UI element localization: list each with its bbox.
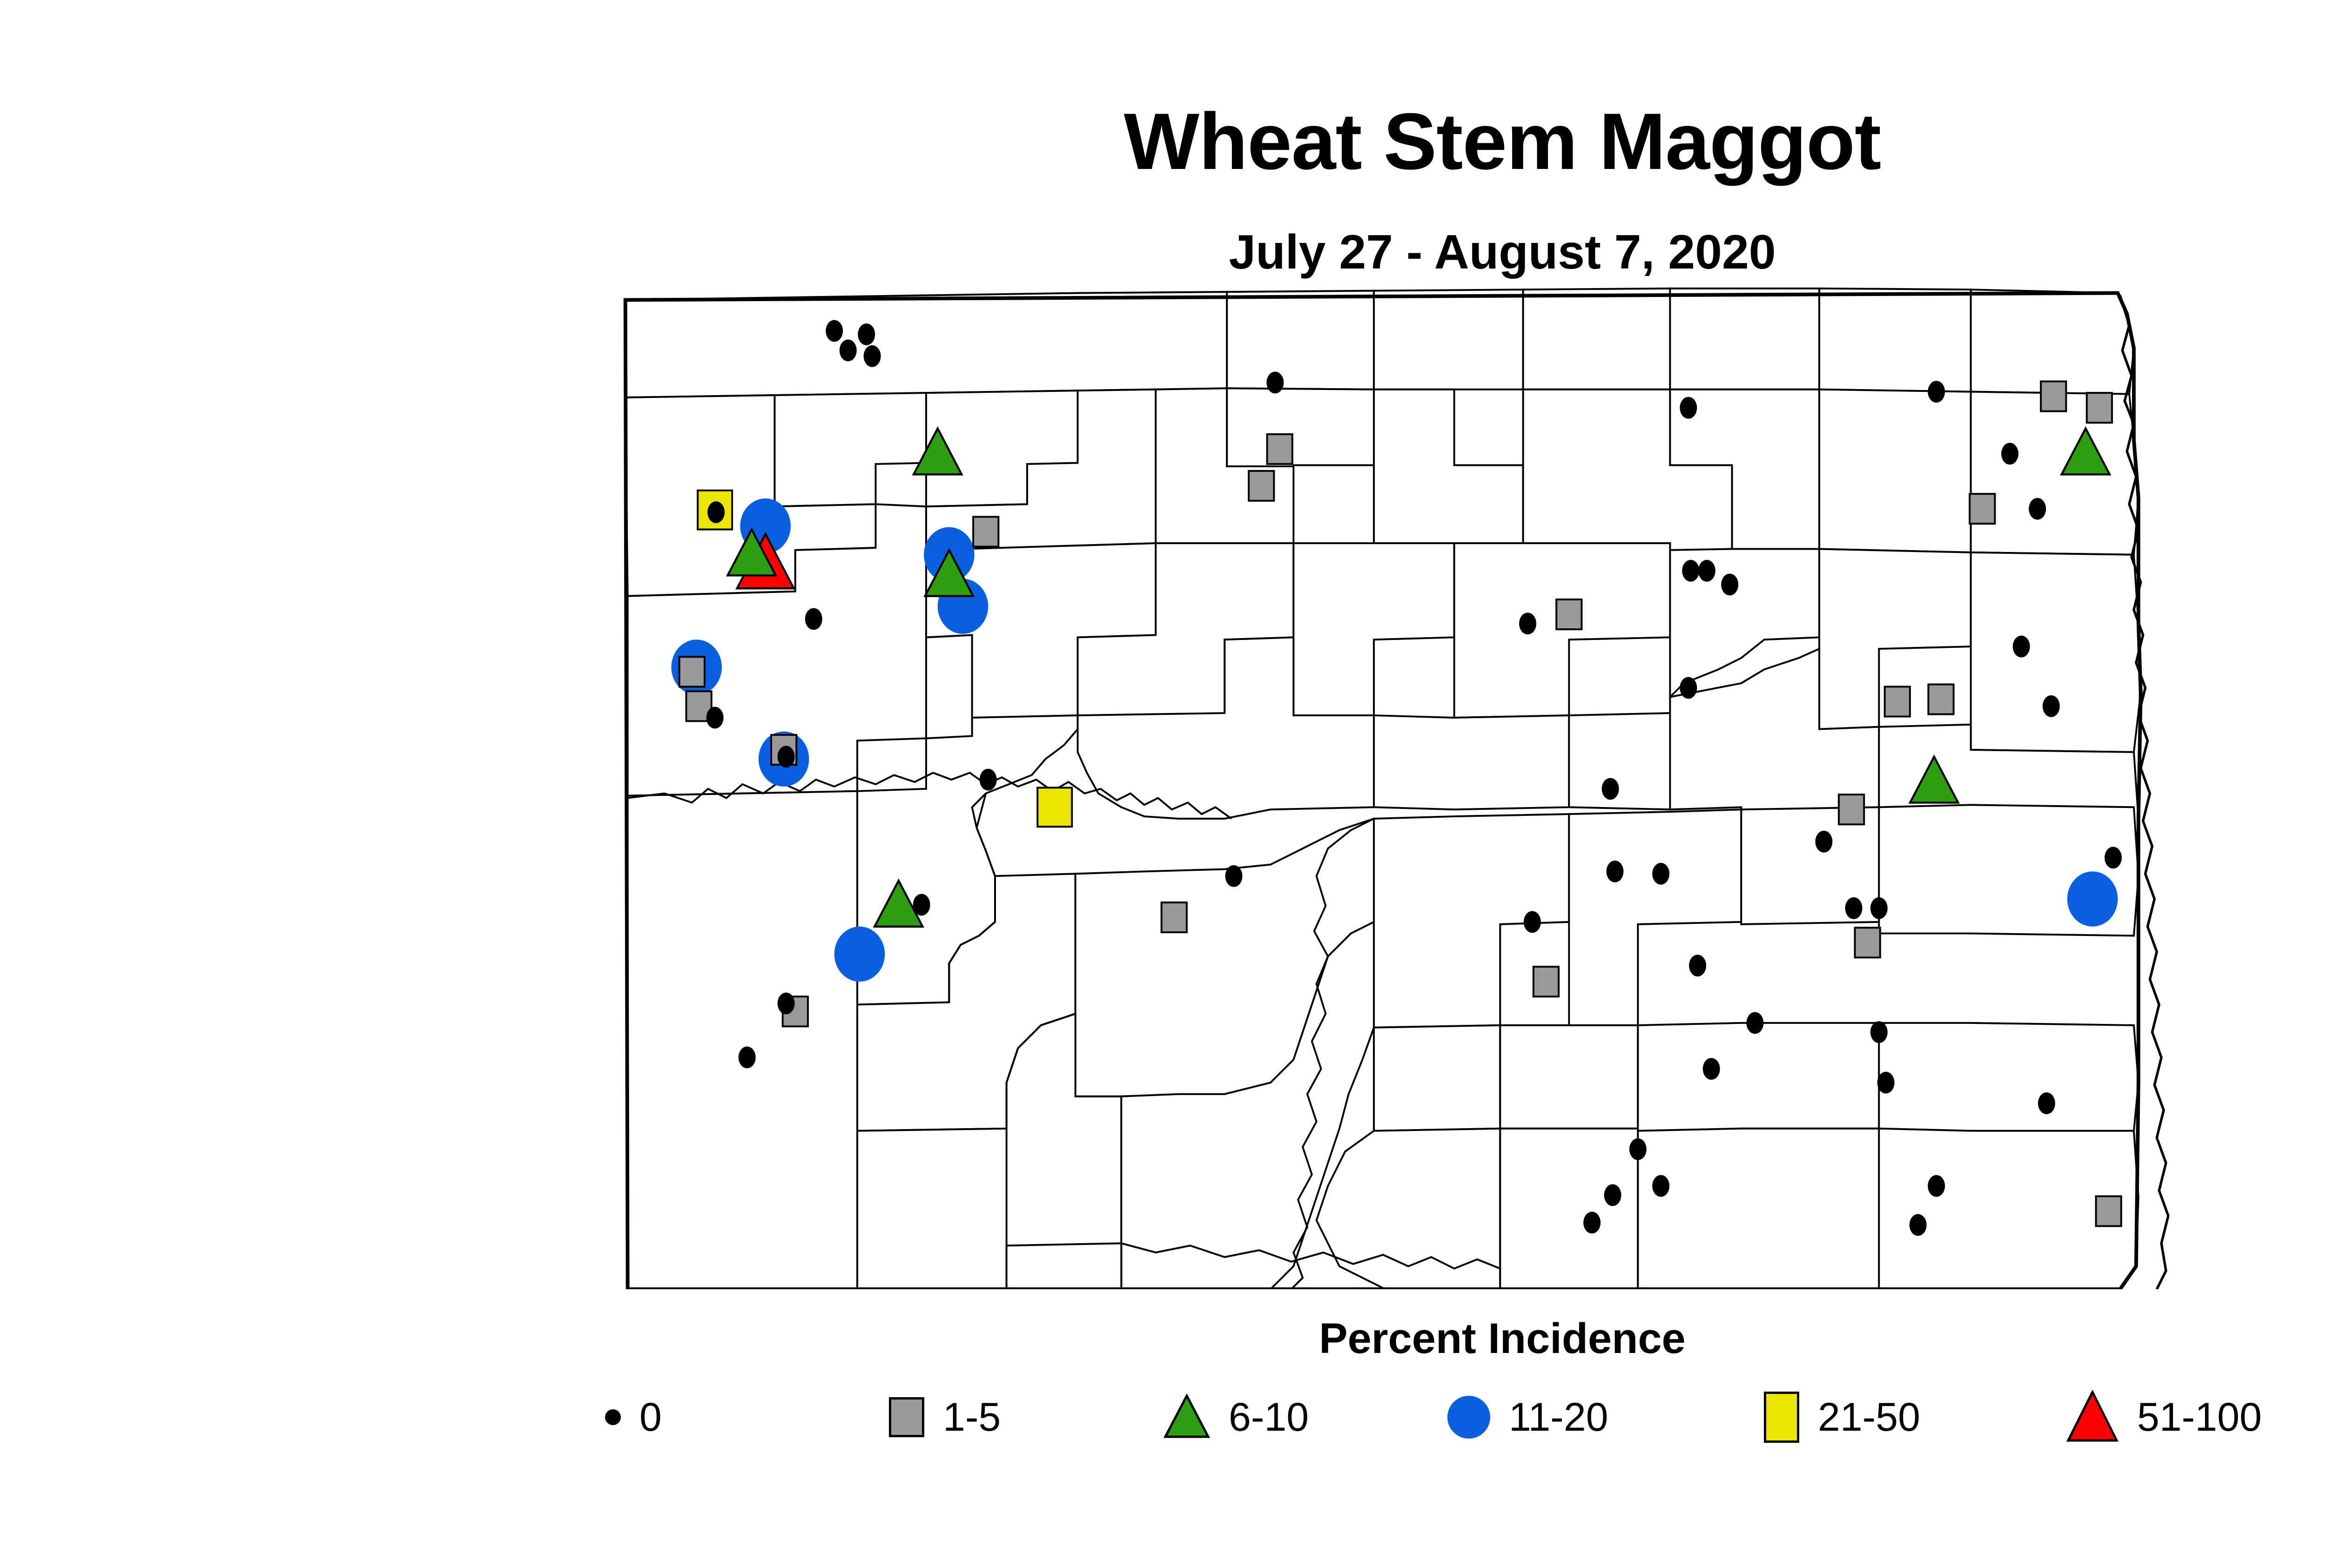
survey-point-0 [1680,677,1697,699]
survey-point-1-5 [2041,381,2066,411]
survey-point-0 [778,746,795,767]
legend: 0 1-5 6-10 11-20 21-50 51-100 [605,1385,2327,1450]
survey-point-0 [2001,443,2018,464]
survey-point-0 [1870,1021,1888,1043]
survey-point-1-5 [1556,599,1581,629]
legend-item-4[interactable]: 21-50 [1764,1385,1920,1450]
legend-item-1[interactable]: 1-5 [889,1385,1001,1450]
survey-point-0 [2013,636,2030,658]
legend-label-5: 51-100 [2137,1397,2262,1437]
survey-point-0 [1652,863,1669,885]
survey-point-0 [1524,911,1541,933]
survey-point-0 [2043,695,2060,717]
survey-point-0 [1652,1175,1669,1197]
survey-point-0 [1602,778,1619,800]
survey-point-1-5 [2087,393,2112,423]
survey-point-1-5 [1162,902,1187,932]
legend-item-2[interactable]: 6-10 [1163,1385,1309,1450]
survey-point-0 [1870,897,1888,919]
survey-point-0 [1519,612,1536,634]
green-triangle-icon [1163,1394,1210,1441]
survey-point-0 [1703,1058,1720,1080]
red-triangle-icon [2066,1390,2119,1445]
survey-point-0 [826,320,843,342]
survey-point-0 [913,894,930,915]
page-title: Wheat Stem Maggot [0,101,2327,182]
survey-point-0 [1746,1012,1763,1034]
survey-point-0 [707,501,725,523]
survey-point-1-5 [1885,686,1910,716]
yellow-square-icon [1764,1392,1799,1443]
survey-point-11-20 [2067,871,2118,926]
legend-label-2: 6-10 [1229,1397,1309,1437]
black-dot-icon [605,1409,621,1425]
survey-point-1-5 [973,517,998,546]
survey-point-21-50 [1037,787,1072,827]
survey-point-0 [739,1046,756,1068]
survey-point-1-5 [1970,494,1995,524]
survey-point-1-5 [679,657,705,686]
blue-circle-icon [1447,1396,1490,1439]
survey-point-1-5 [2096,1196,2121,1226]
survey-point-0 [1682,560,1699,582]
survey-point-0 [1225,865,1243,887]
survey-point-0 [1721,574,1738,596]
survey-point-1-5 [1839,794,1864,824]
survey-point-0 [1607,861,1624,882]
legend-label-3: 11-20 [1509,1397,1608,1437]
map-svg [582,279,2304,1289]
survey-point-0 [1583,1212,1601,1234]
legend-title: Percent Incidence [0,1317,2327,1360]
survey-point-0 [2105,847,2122,868]
legend-item-3[interactable]: 11-20 [1447,1385,1608,1450]
survey-point-0 [805,608,822,630]
north-dakota-county-map [582,279,2304,1289]
survey-point-0 [1629,1138,1647,1160]
legend-item-0[interactable]: 0 [605,1385,662,1450]
survey-point-0 [1845,897,1863,919]
survey-point-0 [1680,397,1697,419]
legend-label-4: 21-50 [1818,1397,1920,1437]
survey-point-0 [864,345,881,367]
survey-point-0 [1604,1184,1621,1206]
survey-point-1-5 [1928,684,1953,714]
page-subtitle: July 27 - August 7, 2020 [0,228,2327,276]
survey-point-0 [2029,498,2046,520]
county-boundaries [625,289,2141,1289]
survey-point-1-5 [1249,471,1274,501]
gray-square-icon [889,1397,924,1437]
survey-point-0 [840,339,857,361]
survey-point-0 [1266,372,1284,394]
survey-point-0 [1815,831,1832,853]
survey-point-11-20 [834,927,885,982]
survey-point-0 [1698,560,1715,582]
survey-point-0 [2038,1092,2055,1114]
survey-point-0 [858,323,875,345]
map-figure: Wheat Stem Maggot July 27 - August 7, 20… [0,0,2327,1568]
survey-point-0 [706,707,724,729]
survey-point-0 [1689,955,1706,976]
survey-point-0 [980,769,997,791]
legend-label-1: 1-5 [943,1397,1001,1437]
legend-item-5[interactable]: 51-100 [2066,1385,2262,1450]
survey-point-0 [778,993,795,1015]
survey-point-0 [1928,381,1945,403]
survey-point-0 [1910,1214,1927,1236]
survey-point-0 [1877,1072,1895,1094]
survey-point-0 [1928,1175,1945,1197]
legend-label-0: 0 [639,1397,662,1437]
survey-point-1-5 [1855,928,1880,957]
survey-point-1-5 [1533,967,1559,996]
survey-point-1-5 [1267,434,1292,464]
